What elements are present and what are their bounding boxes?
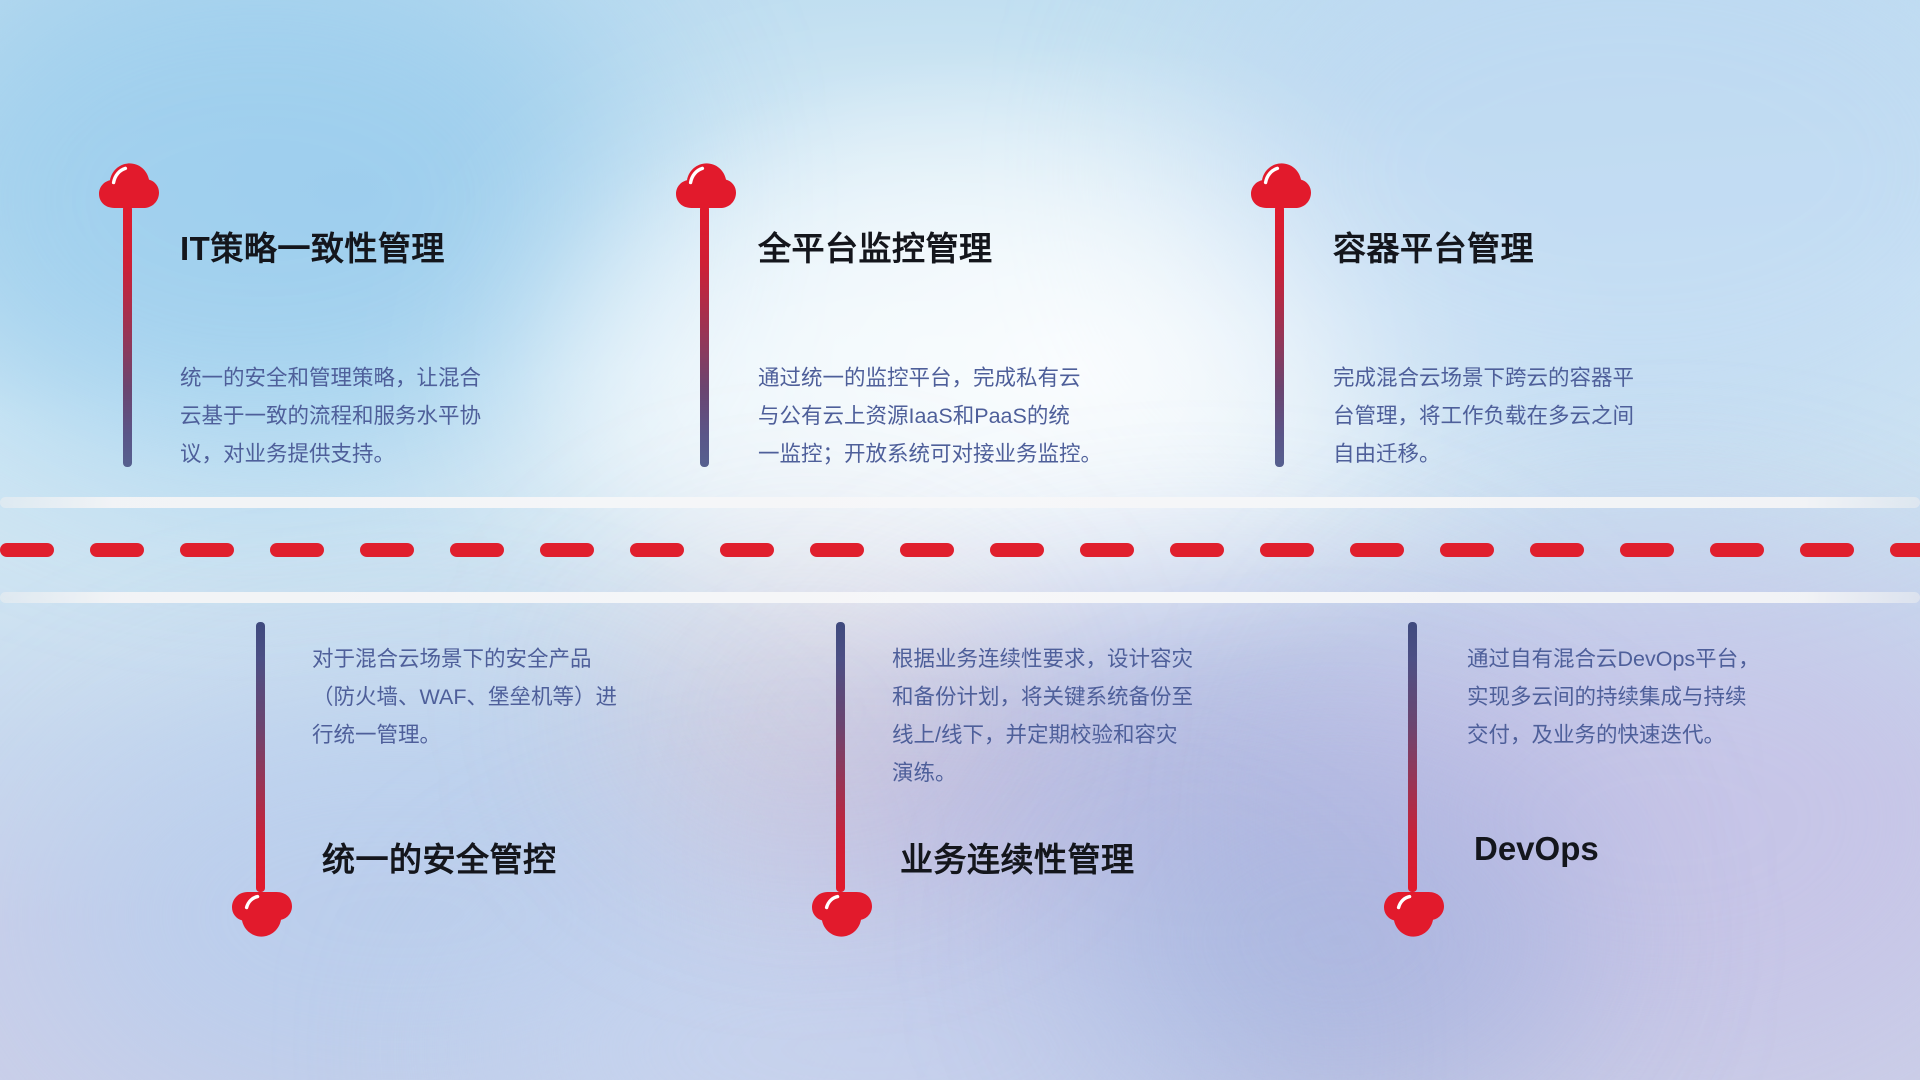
divider-dash [0,543,54,557]
divider-dash [1260,543,1314,557]
divider-dash [1530,543,1584,557]
divider-dash [1350,543,1404,557]
divider-dash [180,543,234,557]
cloud-icon [811,890,873,940]
card-heading: IT策略一致性管理 [180,222,445,270]
body-line: 一监控；开放系统可对接业务监控。 [758,435,1118,473]
body-line: 交付，及业务的快速迭代。 [1467,716,1827,754]
pin-stem [836,622,845,892]
pin-stem [1408,622,1417,892]
divider-dash [360,543,414,557]
pin-stem [1275,205,1284,467]
divider-dash [450,543,504,557]
divider-dash [1890,543,1920,557]
divider-dash [1170,543,1224,557]
card-body: 通过自有混合云DevOps平台， 实现多云间的持续集成与持续 交付，及业务的快速… [1467,640,1827,754]
body-line: 台管理，将工作负载在多云之间 [1333,397,1693,435]
body-line: （防火墙、WAF、堡垒机等）进 [312,678,672,716]
divider-dash [720,543,774,557]
background-blob [40,700,760,1080]
infographic-canvas: IT策略一致性管理 统一的安全和管理策略，让混合 云基于一致的流程和服务水平协 … [0,0,1920,1080]
divider-dash [1440,543,1494,557]
pin-stem [700,205,709,467]
cloud-icon [675,160,737,210]
body-line: 统一的安全和管理策略，让混合 [180,359,540,397]
cloud-icon [98,160,160,210]
body-line: 实现多云间的持续集成与持续 [1467,678,1827,716]
body-line: 通过自有混合云DevOps平台， [1467,640,1827,678]
cloud-icon [231,890,293,940]
divider-dash [270,543,324,557]
divider-dash [1620,543,1674,557]
body-line: 和备份计划，将关键系统备份至 [892,678,1252,716]
card-heading: 业务连续性管理 [900,833,1135,881]
body-line: 完成混合云场景下跨云的容器平 [1333,359,1693,397]
divider-dashes [0,543,1920,557]
body-line: 云基于一致的流程和服务水平协 [180,397,540,435]
divider-rail-bottom [0,592,1920,603]
divider-dash [90,543,144,557]
pin-stem [123,205,132,467]
card-heading: 全平台监控管理 [758,222,993,270]
body-line: 通过统一的监控平台，完成私有云 [758,359,1118,397]
divider-dash [810,543,864,557]
divider-dash [990,543,1044,557]
background-blob [1080,760,1600,1080]
divider-dash [540,543,594,557]
card-body: 通过统一的监控平台，完成私有云 与公有云上资源IaaS和PaaS的统 一监控；开… [758,359,1118,473]
cloud-icon [1383,890,1445,940]
card-body: 统一的安全和管理策略，让混合 云基于一致的流程和服务水平协 议，对业务提供支持。 [180,359,540,473]
body-line: 自由迁移。 [1333,435,1693,473]
divider-dash [900,543,954,557]
pin-stem [256,622,265,892]
body-line: 演练。 [892,754,1252,792]
body-line: 线上/线下，并定期校验和容灾 [892,716,1252,754]
body-line: 议，对业务提供支持。 [180,435,540,473]
body-line: 对于混合云场景下的安全产品 [312,640,672,678]
divider-rail-top [0,497,1920,508]
card-heading: 统一的安全管控 [322,833,557,881]
card-body: 完成混合云场景下跨云的容器平 台管理，将工作负载在多云之间 自由迁移。 [1333,359,1693,473]
card-body: 对于混合云场景下的安全产品 （防火墙、WAF、堡垒机等）进 行统一管理。 [312,640,672,754]
card-body: 根据业务连续性要求，设计容灾 和备份计划，将关键系统备份至 线上/线下，并定期校… [892,640,1252,792]
divider-dash [630,543,684,557]
divider-dash [1710,543,1764,557]
card-heading: 容器平台管理 [1333,222,1534,270]
cloud-icon [1250,160,1312,210]
body-line: 根据业务连续性要求，设计容灾 [892,640,1252,678]
body-line: 行统一管理。 [312,716,672,754]
card-heading: DevOps [1474,830,1599,868]
body-line: 与公有云上资源IaaS和PaaS的统 [758,397,1118,435]
divider-dash [1800,543,1854,557]
divider-dash [1080,543,1134,557]
